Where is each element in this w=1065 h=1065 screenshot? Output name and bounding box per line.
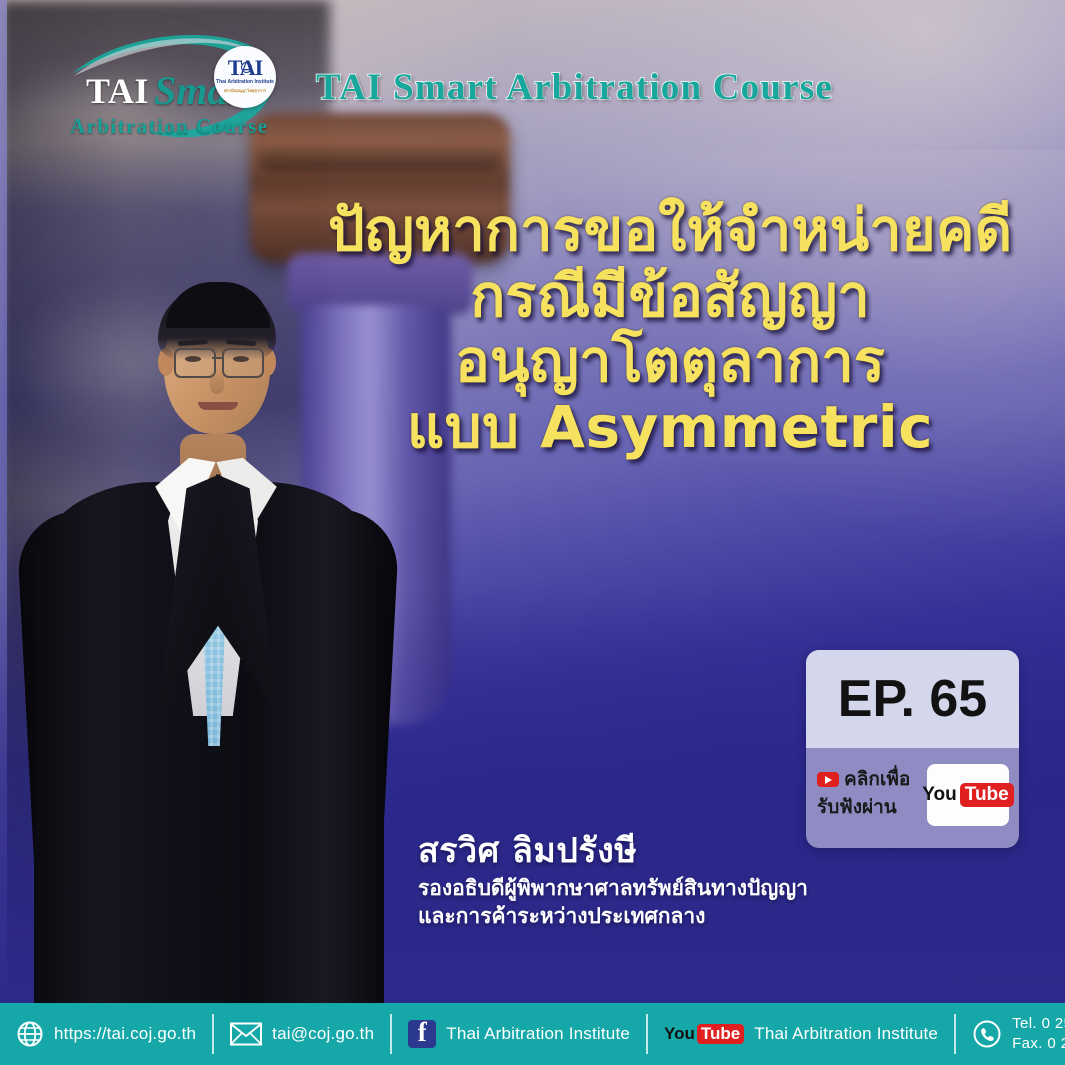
- main-title-line-2: กรณีมีข้อสัญญา: [300, 264, 1040, 330]
- footer-website[interactable]: https://tai.coj.go.th: [0, 1014, 212, 1054]
- eyeglasses-lens-right: [222, 348, 264, 378]
- youtube-icon: You Tube: [664, 1024, 744, 1044]
- eyeglasses-bridge: [212, 357, 222, 359]
- speaker-role: รองอธิบดีผู้พิพากษาศาลทรัพย์สินทางปัญญา …: [418, 875, 808, 931]
- course-header-title: TAI Smart Arbitration Course: [316, 66, 833, 109]
- mouth: [198, 402, 238, 410]
- logo-subtitle: Arbitration Course: [70, 114, 268, 139]
- logo-emblem-line1: Thai Arbitration Institute: [214, 79, 276, 85]
- episode-cta-panel[interactable]: คลิกเพื่อ รับฟังผ่าน You Tube: [806, 748, 1019, 848]
- speaker-info: สรวิศ ลิมปรังษี รองอธิบดีผู้พิพากษาศาลทร…: [418, 832, 808, 931]
- logo-emblem-glyph-icon: [241, 62, 252, 73]
- speaker-role-line-2: และการค้าระหว่างประเทศกลาง: [418, 903, 808, 931]
- youtube-logo-button[interactable]: You Tube: [927, 764, 1009, 826]
- tai-logo: TAI Smart Arbitration Course TAI Thai Ar…: [62, 22, 284, 142]
- episode-badge[interactable]: EP. 65 คลิกเพื่อ รับฟังผ่าน You Tube: [806, 650, 1019, 848]
- speaker-name: สรวิศ ลิมปรังษี: [418, 832, 808, 871]
- footer-email[interactable]: tai@coj.go.th: [214, 1014, 390, 1054]
- nose: [210, 368, 224, 394]
- main-title-block: ปัญหาการขอให้จำหน่ายคดี กรณีมีข้อสัญญา อ…: [300, 198, 1040, 460]
- episode-cta-line-2: รับฟังผ่าน: [817, 794, 925, 822]
- episode-number: EP. 65: [838, 669, 987, 729]
- main-title-line-4: แบบ Asymmetric: [300, 395, 1040, 461]
- footer-email-text: tai@coj.go.th: [272, 1024, 374, 1044]
- footer-youtube-you: You: [664, 1024, 695, 1044]
- youtube-play-icon: [817, 772, 839, 787]
- footer-website-text: https://tai.coj.go.th: [54, 1024, 196, 1044]
- globe-icon: [16, 1020, 44, 1048]
- main-title-line-3: อนุญาโตตุลาการ: [300, 329, 1040, 395]
- poster-canvas: TAI Smart Arbitration Course TAI Thai Ar…: [0, 0, 1065, 1065]
- speaker-role-line-1: รองอธิบดีผู้พิพากษาศาลทรัพย์สินทางปัญญา: [418, 875, 808, 903]
- logo-emblem-line2: สถาบันอนุญาโตตุลาการ: [214, 87, 276, 94]
- episode-cta-line-1: คลิกเพื่อ: [844, 766, 910, 794]
- episode-cta-text: คลิกเพื่อ รับฟังผ่าน: [817, 766, 925, 821]
- footer-youtube[interactable]: You Tube Thai Arbitration Institute: [648, 1014, 954, 1054]
- footer-phone: Tel. 0 2541 2298-9 Fax. 0 2512 8434, 0 2…: [956, 1014, 1065, 1054]
- episode-cta-row-1: คลิกเพื่อ: [817, 766, 925, 794]
- youtube-logo-tube: Tube: [960, 783, 1014, 807]
- footer-facebook[interactable]: Thai Arbitration Institute: [392, 1014, 646, 1054]
- envelope-icon: [230, 1022, 262, 1046]
- footer-tel: Tel. 0 2541 2298-9: [1012, 1014, 1065, 1034]
- phone-icon: [972, 1019, 1002, 1049]
- youtube-logo-you: You: [922, 784, 956, 806]
- footer-fax: Fax. 0 2512 8434, 0 2512 8436: [1012, 1034, 1065, 1054]
- footer-youtube-text: Thai Arbitration Institute: [754, 1024, 938, 1044]
- footer-facebook-text: Thai Arbitration Institute: [446, 1024, 630, 1044]
- footer-phone-text: Tel. 0 2541 2298-9 Fax. 0 2512 8434, 0 2…: [1012, 1014, 1065, 1055]
- hair-top: [166, 282, 270, 328]
- main-title-line-1: ปัญหาการขอให้จำหน่ายคดี: [300, 198, 1040, 264]
- logo-text-tai: TAI: [86, 70, 149, 112]
- contact-footer: https://tai.coj.go.th tai@coj.go.th Thai…: [0, 1003, 1065, 1065]
- footer-youtube-tube: Tube: [697, 1024, 744, 1044]
- facebook-icon: [408, 1020, 436, 1048]
- logo-emblem: TAI Thai Arbitration Institute สถาบันอนุ…: [214, 46, 276, 108]
- episode-number-panel: EP. 65: [806, 650, 1019, 748]
